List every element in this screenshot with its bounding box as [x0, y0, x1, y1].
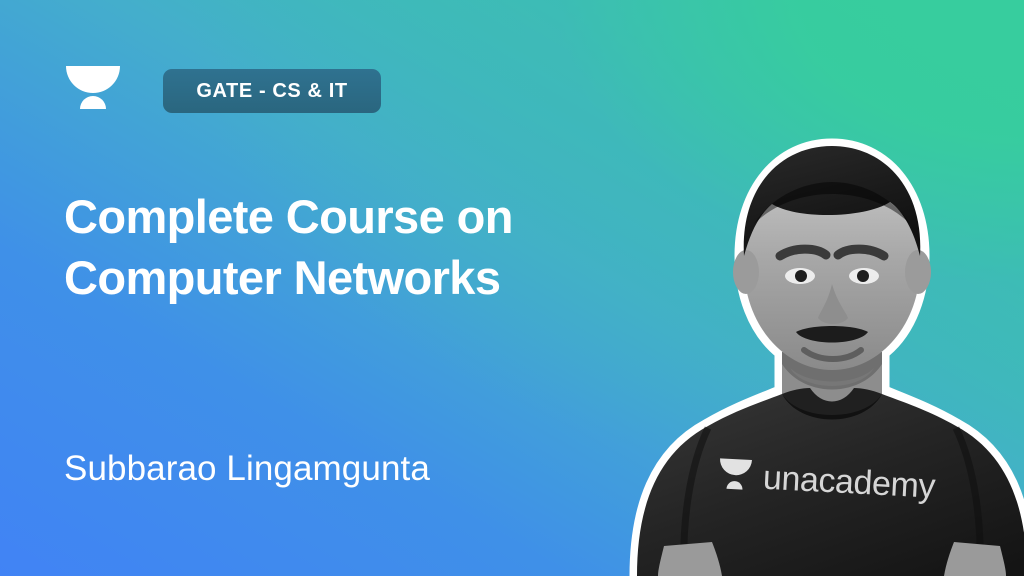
- course-title-line-2: Computer Networks: [64, 247, 584, 308]
- instructor-name: Subbarao Lingamgunta: [64, 446, 430, 492]
- tshirt-wordmark: unacademy: [762, 458, 936, 506]
- tshirt-brand-lockup: unacademy: [717, 446, 938, 515]
- category-badge[interactable]: GATE - CS & IT: [163, 69, 381, 113]
- course-title-line-1: Complete Course on: [64, 186, 584, 247]
- unacademy-logo-icon: [64, 63, 122, 119]
- course-title: Complete Course on Computer Networks: [64, 186, 584, 308]
- course-promo-card: GATE - CS & IT Complete Course on Comput…: [0, 0, 1024, 576]
- category-badge-label: GATE - CS & IT: [196, 80, 347, 103]
- unacademy-chalice-icon: [717, 456, 753, 496]
